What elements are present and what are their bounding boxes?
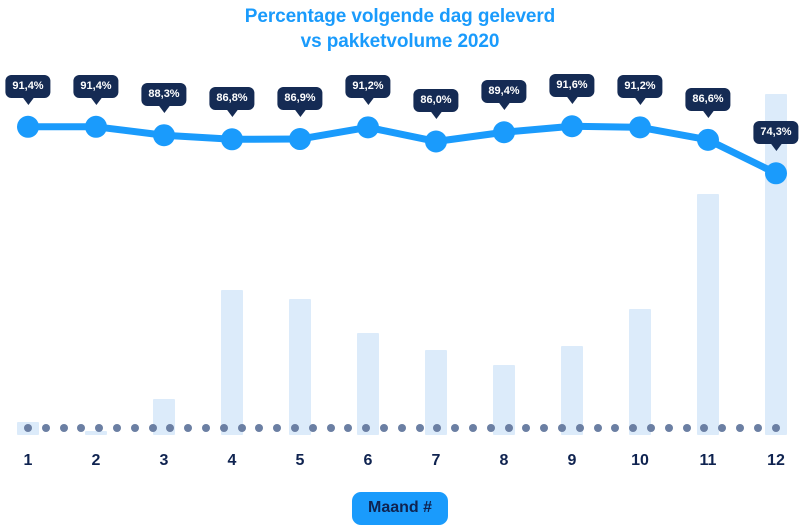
plot-area: 91,4%91,4%88,3%86,8%86,9%91,2%86,0%89,4%… (0, 55, 800, 435)
x-tick-label-7: 7 (432, 452, 441, 470)
data-point-month-6[interactable] (357, 116, 379, 138)
data-label-month-6: 91,2% (345, 75, 390, 98)
data-label-month-3: 88,3% (141, 83, 186, 106)
data-point-month-3[interactable] (153, 124, 175, 146)
x-tick-label-8: 8 (500, 452, 509, 470)
data-label-month-11: 86,6% (685, 88, 730, 111)
data-label-month-2: 91,4% (73, 75, 118, 98)
x-tick-label-9: 9 (568, 452, 577, 470)
data-point-month-7[interactable] (425, 130, 447, 152)
x-tick-label-6: 6 (364, 452, 373, 470)
data-point-month-12[interactable] (765, 162, 787, 184)
data-point-month-5[interactable] (289, 128, 311, 150)
data-point-month-11[interactable] (697, 129, 719, 151)
data-label-month-1: 91,4% (5, 75, 50, 98)
data-label-month-7: 86,0% (413, 89, 458, 112)
x-tick-label-5: 5 (296, 452, 305, 470)
x-tick-label-1: 1 (24, 452, 33, 470)
x-tick-label-2: 2 (92, 452, 101, 470)
data-point-month-10[interactable] (629, 116, 651, 138)
chart-container: Percentage volgende dag geleverd vs pakk… (0, 0, 800, 532)
data-label-month-9: 91,6% (549, 74, 594, 97)
line-series-percentage (0, 55, 800, 435)
data-point-month-9[interactable] (561, 115, 583, 137)
data-point-month-2[interactable] (85, 116, 107, 138)
chart-title-line-1: Percentage volgende dag geleverd (0, 4, 800, 29)
chart-title: Percentage volgende dag geleverd vs pakk… (0, 4, 800, 54)
data-label-month-5: 86,9% (277, 87, 322, 110)
data-point-month-1[interactable] (17, 116, 39, 138)
x-axis-title-badge: Maand # (352, 492, 448, 525)
line-markers (17, 115, 787, 184)
x-axis-tick-labels: 123456789101112 (0, 452, 800, 478)
data-label-month-8: 89,4% (481, 80, 526, 103)
data-label-month-12: 74,3% (753, 121, 798, 144)
x-tick-label-4: 4 (228, 452, 237, 470)
data-label-month-4: 86,8% (209, 87, 254, 110)
data-point-month-4[interactable] (221, 128, 243, 150)
data-point-month-8[interactable] (493, 121, 515, 143)
x-tick-label-12: 12 (767, 452, 785, 470)
x-tick-label-3: 3 (160, 452, 169, 470)
line-path (28, 126, 776, 173)
x-tick-label-11: 11 (700, 452, 717, 470)
data-label-month-10: 91,2% (617, 75, 662, 98)
chart-title-line-2: vs pakketvolume 2020 (0, 29, 800, 54)
x-tick-label-10: 10 (631, 452, 649, 470)
